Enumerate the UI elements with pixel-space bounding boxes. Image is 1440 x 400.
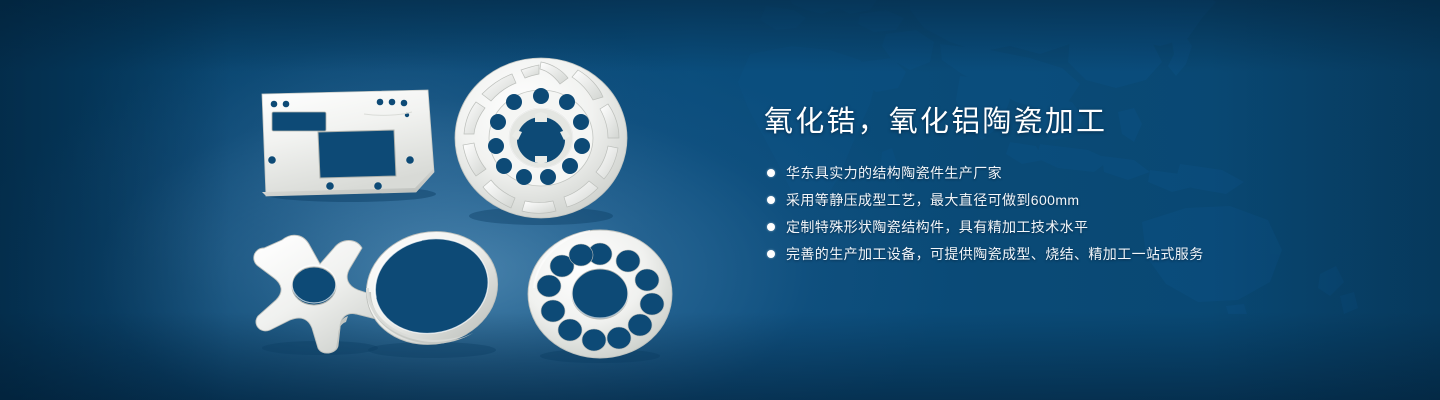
product-images [0,0,740,400]
list-item: 采用等静压成型工艺，最大直径可做到600mm [762,189,1382,211]
product-banner: 氧化锆，氧化铝陶瓷加工 华东具实力的结构陶瓷件生产厂家 采用等静压成型工艺，最大… [0,0,1440,400]
bullet-dot-icon [767,223,775,231]
ceramic-mounting-plate [252,76,442,202]
banner-copy: 氧化锆，氧化铝陶瓷加工 华东具实力的结构陶瓷件生产厂家 采用等静压成型工艺，最大… [762,104,1382,270]
feature-list: 华东具实力的结构陶瓷件生产厂家 采用等静压成型工艺，最大直径可做到600mm 定… [762,162,1382,265]
list-item: 完善的生产加工设备，可提供陶瓷成型、烧结、精加工一站式服务 [762,243,1382,265]
feature-text: 完善的生产加工设备，可提供陶瓷成型、烧结、精加工一站式服务 [786,243,1204,265]
ceramic-impeller-disc [448,52,634,228]
feature-text: 定制特殊形状陶瓷结构件，具有精加工技术水平 [786,216,1088,238]
banner-headline: 氧化锆，氧化铝陶瓷加工 [764,104,1382,140]
ceramic-perforated-disc [524,228,676,364]
bullet-dot-icon [767,196,775,204]
bullet-dot-icon [767,169,775,177]
list-item: 华东具实力的结构陶瓷件生产厂家 [762,162,1382,184]
list-item: 定制特殊形状陶瓷结构件，具有精加工技术水平 [762,216,1382,238]
bullet-dot-icon [767,250,775,258]
feature-text: 采用等静压成型工艺，最大直径可做到600mm [786,189,1079,211]
ceramic-ring [352,226,514,358]
feature-text: 华东具实力的结构陶瓷件生产厂家 [786,162,1002,184]
